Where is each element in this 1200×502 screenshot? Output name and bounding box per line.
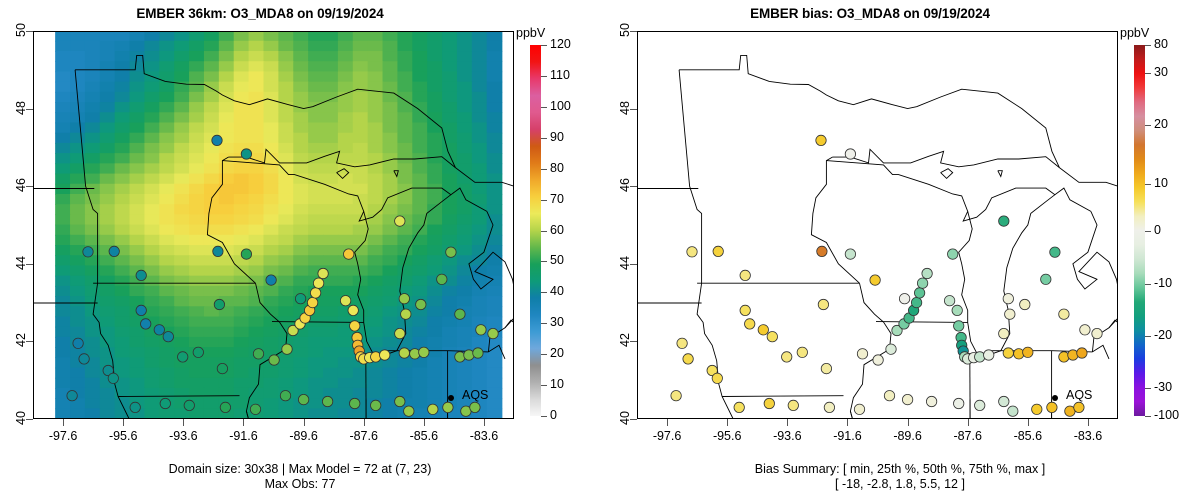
x-axis-label: -91.6 [213,429,273,443]
colorbar-tick [541,261,547,262]
colorbar-tick-label: 30 [550,315,564,329]
x-axis-label: -83.6 [1058,429,1118,443]
x-axis-tick [727,419,728,426]
left-panel: EMBER 36km: O3_MDA8 on 09/19/2024 AQS -9… [0,0,600,502]
colorbar-tick-label: -30 [1154,380,1172,394]
colorbar-tick-label: 50 [550,253,564,267]
colorbar-tick [541,231,547,232]
colorbar-tick [541,45,547,46]
colorbar-tick [541,323,547,324]
y-axis-label: 48 [618,88,632,128]
left-caption-2: Max Obs: 77 [0,477,600,492]
x-axis-tick [968,419,969,426]
x-axis-tick [364,419,365,426]
x-axis-label: -89.6 [274,429,334,443]
colorbar-tick-label: 20 [550,346,564,360]
x-axis-label: -97.6 [637,429,697,443]
colorbar-tick-label: -20 [1154,328,1172,342]
x-axis-tick [304,419,305,426]
right-caption-1: Bias Summary: [ min, 25th %, 50th %, 75t… [600,462,1200,477]
y-axis-label: 50 [618,10,632,50]
y-axis-label: 44 [14,243,28,283]
x-axis-tick [667,419,668,426]
colorbar-tick-label: 0 [550,408,557,422]
x-axis-tick [1088,419,1089,426]
colorbar-tick-label: 60 [550,223,564,237]
x-axis-label: -89.6 [878,429,938,443]
x-axis-label: -85.6 [998,429,1058,443]
colorbar-tick-label: 10 [550,377,564,391]
colorbar-tick-label: 40 [550,284,564,298]
colorbar-tick-label: -10 [1154,276,1172,290]
colorbar-tick [541,200,547,201]
colorbar-tick [1145,416,1151,417]
x-axis-tick [1028,419,1029,426]
colorbar-tick-label: 100 [550,99,571,113]
y-axis-label: 40 [14,398,28,438]
y-axis-label: 44 [618,243,632,283]
y-axis-label: 42 [618,320,632,360]
colorbar-tick [1145,284,1151,285]
x-axis-label: -95.6 [697,429,757,443]
x-axis-label: -95.6 [93,429,153,443]
colorbar-unit-label: ppbV [1120,26,1149,40]
colorbar-tick [541,385,547,386]
y-axis-label: 42 [14,320,28,360]
colorbar-unit-label: ppbV [516,26,545,40]
colorbar-tick [541,107,547,108]
colorbar-tick [1145,125,1151,126]
x-axis-label: -93.6 [757,429,817,443]
right-panel: EMBER bias: O3_MDA8 on 09/19/2024 AQS -9… [600,0,1200,502]
colorbar-tick [541,354,547,355]
x-axis-tick [123,419,124,426]
colorbar-tick-label: -100 [1154,408,1179,422]
x-axis-tick [63,419,64,426]
colorbar-tick-label: 110 [550,68,570,82]
x-axis-label: -87.6 [334,429,394,443]
x-axis-label: -87.6 [938,429,998,443]
colorbar-tick-label: 30 [1154,65,1168,79]
colorbar-tick [541,76,547,77]
colorbar-tick [541,416,547,417]
x-axis-label: -91.6 [817,429,877,443]
x-axis-tick [424,419,425,426]
colorbar-tick-label: 90 [550,130,564,144]
y-axis-label: 50 [14,10,28,50]
x-axis-tick [908,419,909,426]
y-axis-label: 48 [14,88,28,128]
x-axis-label: -93.6 [153,429,213,443]
left-panel-title: EMBER 36km: O3_MDA8 on 09/19/2024 [0,6,520,21]
colorbar-tick [1145,45,1151,46]
colorbar-tick-label: 120 [550,37,571,51]
x-axis-tick [183,419,184,426]
colorbar-tick [541,169,547,170]
x-axis-tick [787,419,788,426]
right-plot-frame [637,31,1118,419]
colorbar-tick [1145,73,1151,74]
colorbar-tick-label: 80 [550,161,564,175]
colorbar-tick [1145,184,1151,185]
colorbar-tick-label: 80 [1154,37,1168,51]
right-panel-title: EMBER bias: O3_MDA8 on 09/19/2024 [610,6,1130,21]
colorbar-tick-label: 10 [1154,176,1168,190]
colorbar-tick [541,138,547,139]
x-axis-label: -97.6 [33,429,93,443]
colorbar-tick [1145,231,1151,232]
x-axis-tick [847,419,848,426]
bias-colorbar-gradient [1134,45,1145,416]
y-axis-label: 46 [14,165,28,205]
colorbar-tick [1145,336,1151,337]
y-axis-label: 46 [618,165,632,205]
colorbar-tick-label: 70 [550,192,564,206]
model-colorbar-gradient [530,45,541,416]
colorbar-tick-label: 20 [1154,117,1168,131]
colorbar-tick-label: 0 [1154,223,1161,237]
x-axis-tick [484,419,485,426]
x-axis-label: -83.6 [454,429,514,443]
colorbar-tick [541,292,547,293]
right-caption-2: [ -18, -2.8, 1.8, 5.5, 12 ] [600,477,1200,492]
x-axis-label: -85.6 [394,429,454,443]
colorbar-tick [1145,388,1151,389]
left-caption-1: Domain size: 30x38 | Max Model = 72 at (… [0,462,600,477]
x-axis-tick [243,419,244,426]
left-plot-frame [33,31,514,419]
y-axis-label: 40 [618,398,632,438]
